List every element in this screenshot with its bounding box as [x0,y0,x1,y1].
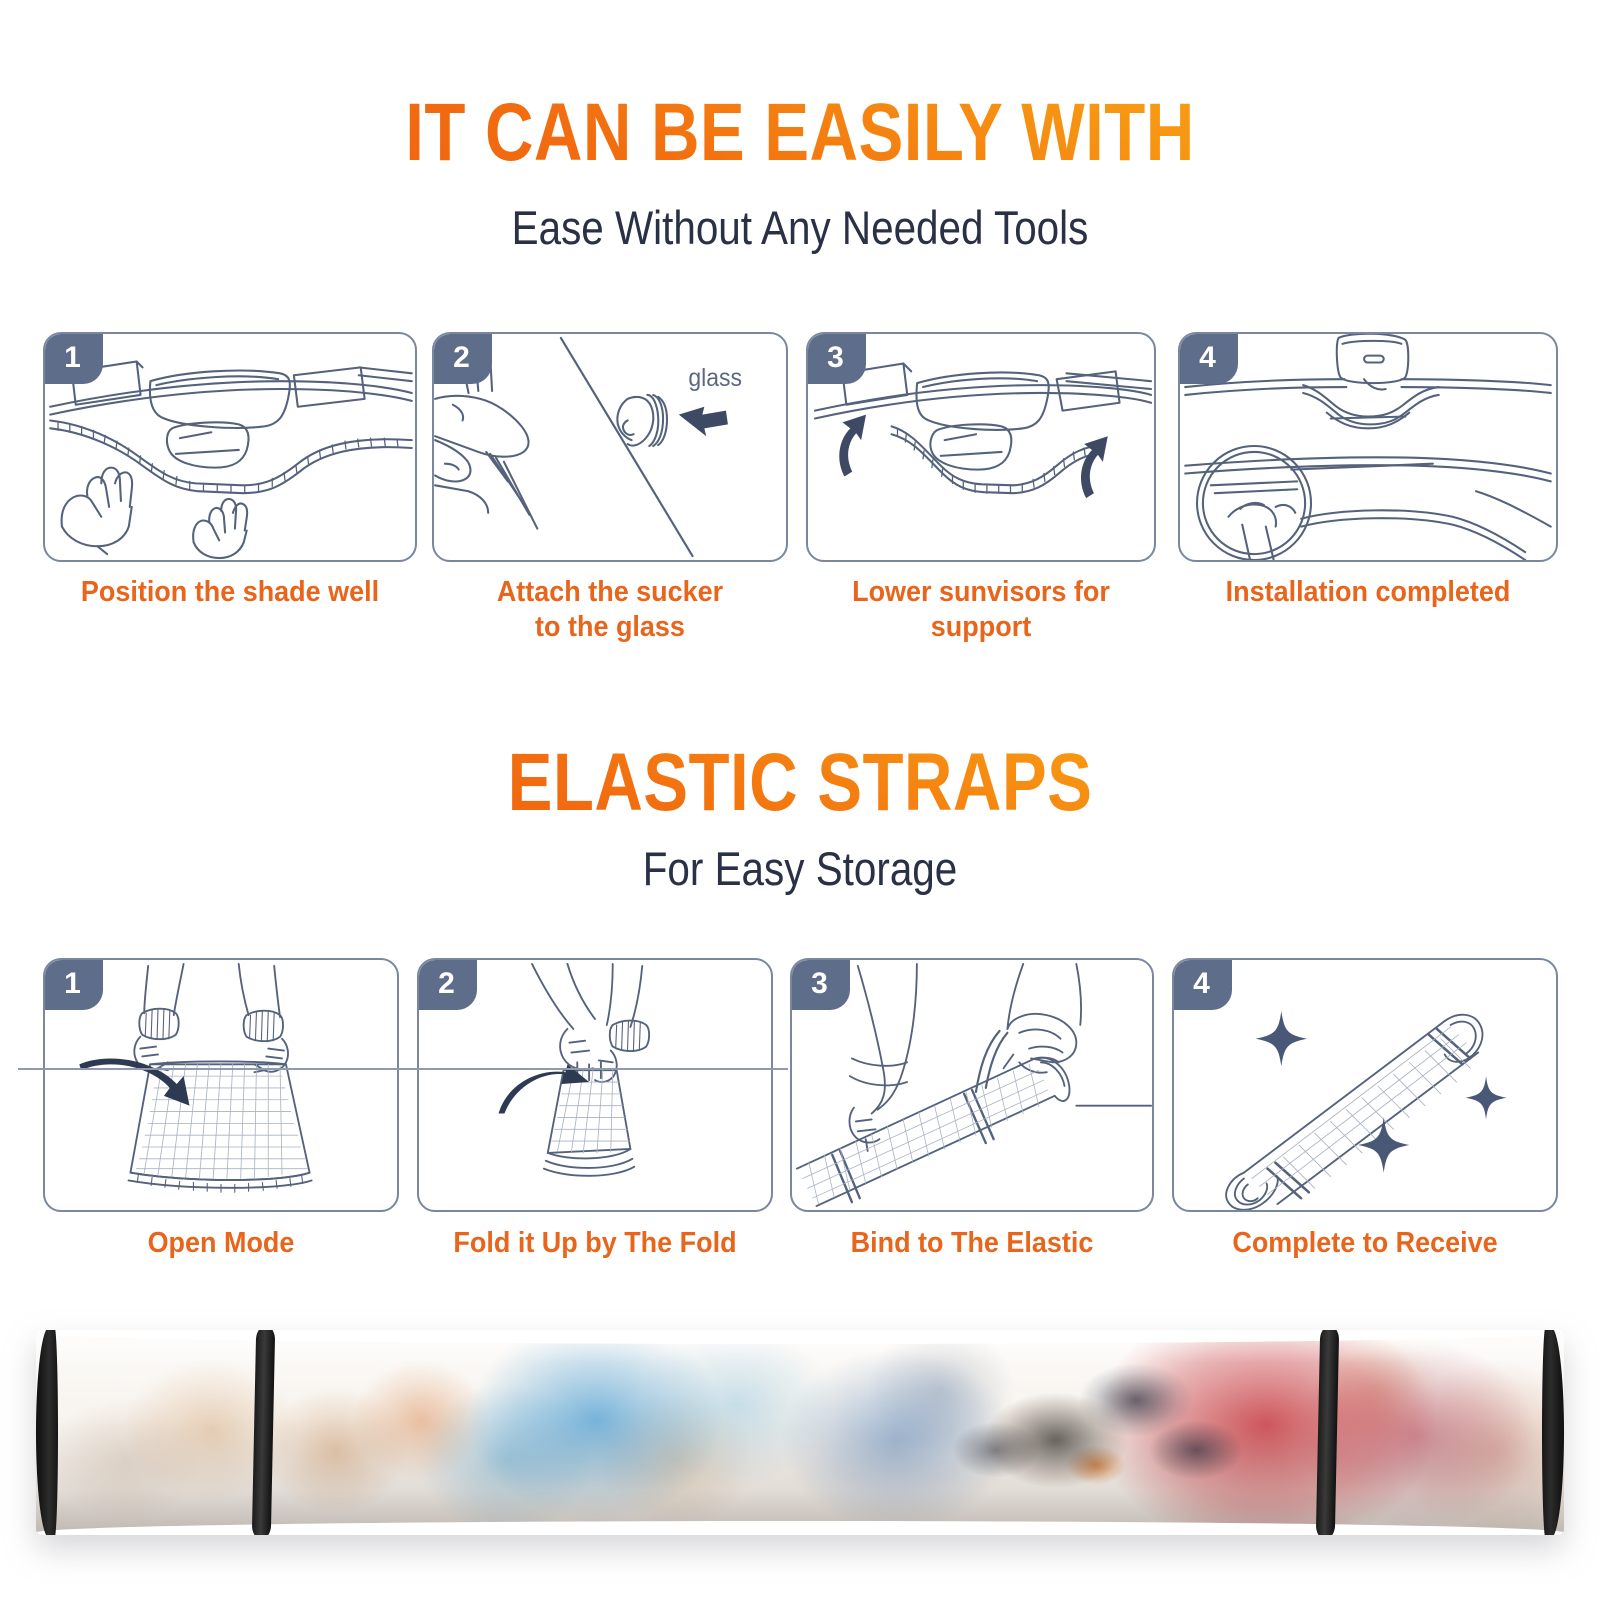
install-step-3: 3 [806,332,1156,562]
section-subheadline-installation: Ease Without Any Needed Tools [112,204,1488,251]
step-caption: Attach the sucker to the glass [444,575,775,646]
storage-step-4: 4 [1172,958,1558,1212]
step-card: 3 [806,332,1156,562]
step-number-badge: 4 [1180,334,1238,384]
storage-step-2: 2 [417,958,773,1212]
step-card: 4 [1172,958,1558,1212]
section-headline-storage: ELASTIC STRAPS [144,742,1456,824]
install-step-1: 1 [43,332,417,562]
step-caption: Complete to Receive [1186,1226,1545,1261]
step-card: 3 [790,958,1154,1212]
step-card: 2 [432,332,788,562]
step-caption: Open Mode [55,1226,386,1261]
step-caption: Installation completed [1191,575,1544,610]
step-number-badge: 3 [792,960,850,1010]
sparkle-group [1256,1011,1507,1172]
rolled-sunshade-cylinder [36,1330,1564,1535]
step-caption: Position the shade well [56,575,404,610]
step-card: 2 [417,958,773,1212]
section-subheadline-storage: For Easy Storage [112,845,1488,892]
step-caption: Lower sunvisors for support [818,575,1144,646]
step-caption: Fold it Up by The Fold [429,1226,760,1261]
step-number-badge: 2 [434,334,492,384]
fold-guide-line [18,1068,788,1070]
step-card: 1 [43,958,399,1212]
glass-annotation-label: glass [688,364,742,393]
product-photo-rolled-sunshade [36,1330,1564,1535]
storage-step-3: 3 [790,958,1154,1212]
install-step-4: 4 [1178,332,1558,562]
step-card: 4 [1178,332,1558,562]
rolled-mat-sparkles-illustration [1174,960,1556,1210]
roll-end-left [36,1330,58,1535]
infographic-page: IT CAN BE EASILY WITH Ease Without Any N… [0,0,1600,1600]
step-card: 1 [43,332,417,562]
step-number-badge: 3 [808,334,866,384]
install-step-2: 2 [432,332,788,562]
step-number-badge: 1 [45,334,103,384]
section-headline-installation: IT CAN BE EASILY WITH [144,92,1456,174]
step-number-badge: 2 [419,960,477,1010]
step-number-badge: 4 [1174,960,1232,1010]
step-number-badge: 1 [45,960,103,1010]
step-caption: Bind to The Elastic [803,1226,1142,1261]
storage-step-1: 1 [43,958,399,1212]
